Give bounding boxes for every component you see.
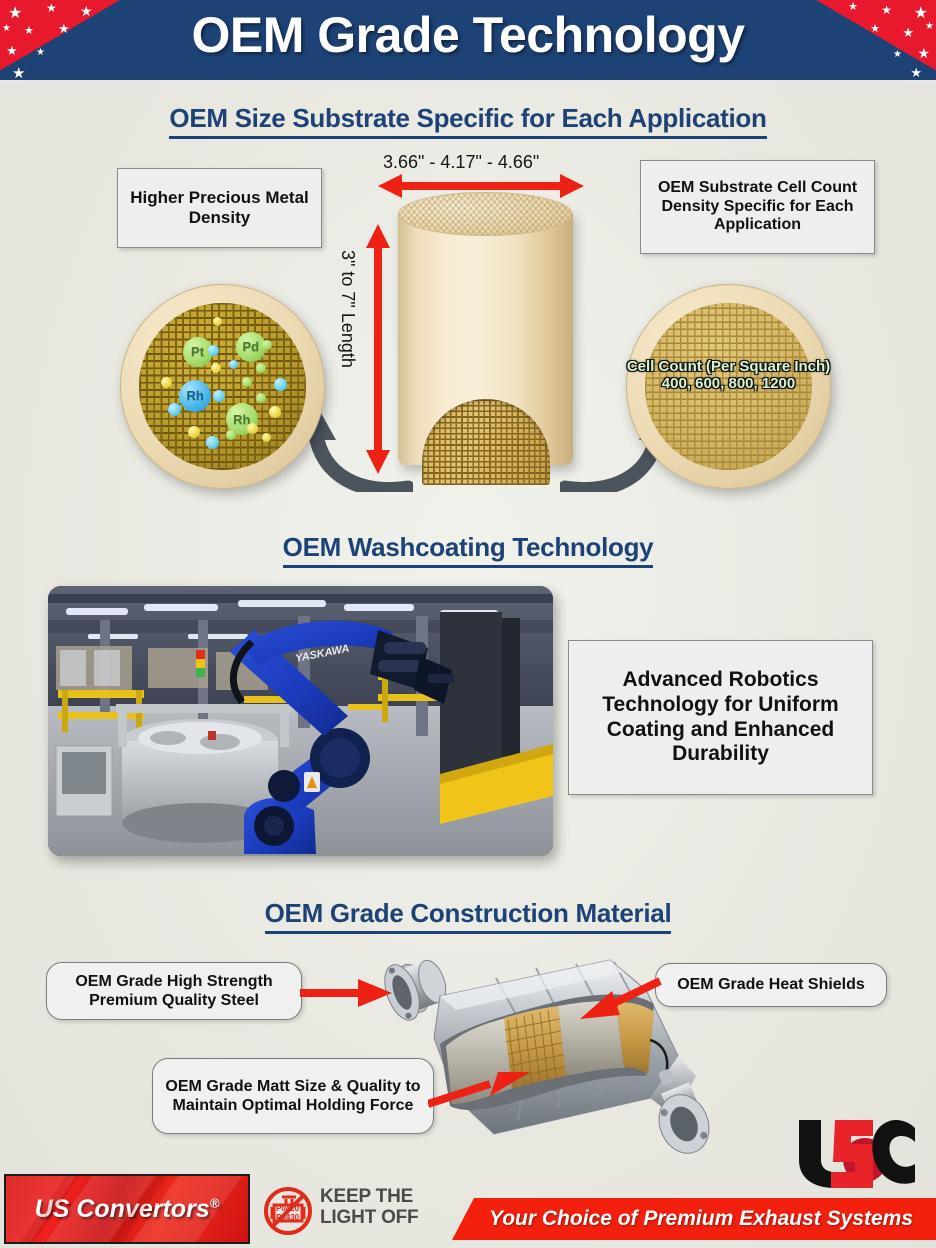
callout-cell-count-density: OEM Substrate Cell Count Density Specifi…: [640, 160, 875, 254]
robot-photo-illustration: YASKAWA: [48, 586, 553, 856]
cylinder-top-face: [398, 192, 573, 236]
usc-monogram-logo: [795, 1116, 919, 1190]
callout-text: OEM Grade High Strength Premium Quality …: [57, 972, 291, 1010]
header-banner: ★ ★ ★ ★ ★ ★ ★ ★ ★ OEM Grade Technology ★…: [0, 0, 936, 83]
keep-the-light-off-badge: P0420 P0430 KEEP THE LIGHT OFF: [262, 1183, 437, 1239]
infographic-page: ★ ★ ★ ★ ★ ★ ★ ★ ★ OEM Grade Technology ★…: [0, 0, 936, 1248]
particle-dot: [213, 317, 222, 326]
particle-dot: [188, 426, 200, 438]
particle-dot: [161, 377, 172, 388]
particle-dot: [242, 377, 252, 387]
substrate-cylinder: [398, 192, 573, 492]
callout-higher-precious-metal-density: Higher Precious Metal Density: [117, 168, 322, 248]
particle-pd: Pd: [236, 332, 266, 362]
dtc-code-1: P0420: [276, 1204, 300, 1213]
particle-dot: [213, 390, 225, 402]
arrow-matt-icon: [428, 1068, 536, 1110]
callout-text: OEM Grade Matt Size & Quality to Maintai…: [163, 1077, 423, 1115]
particle-rh-blue: Rh: [179, 380, 211, 412]
cell-count-label: Cell Count (Per Square Inch) 400, 600, 8…: [596, 359, 861, 393]
keep-line-1: KEEP THE: [320, 1187, 418, 1208]
tagline-banner: Your Choice of Premium Exhaust Systems: [452, 1198, 936, 1240]
dimension-length-label: 3" to 7" Length: [337, 250, 358, 368]
section-heading-washcoating: OEM Washcoating Technology: [0, 532, 936, 563]
tagline-text: Your Choice of Premium Exhaust Systems: [475, 1207, 913, 1231]
cell-count-title: Cell Count (Per Square Inch): [596, 359, 861, 376]
callout-text: OEM Substrate Cell Count Density Specifi…: [649, 179, 866, 236]
callout-text: Higher Precious Metal Density: [126, 188, 313, 228]
keep-light-off-text: KEEP THE LIGHT OFF: [320, 1187, 418, 1228]
keep-line-2: LIGHT OFF: [320, 1208, 418, 1229]
stars-decoration-right: ★ ★ ★ ★ ★ ★ ★ ★ ★: [804, 0, 936, 83]
callout-advanced-robotics: Advanced Robotics Technology for Uniform…: [568, 640, 873, 795]
usc-logo-icon: [795, 1116, 919, 1190]
honeycomb-face-left: Pt Pd Rh Rh: [139, 303, 305, 469]
logo-bg-texture: [6, 1176, 248, 1242]
section-heading-construction: OEM Grade Construction Material: [0, 898, 936, 929]
particle-dot: [168, 403, 181, 416]
arrow-heat-shields-icon: [578, 975, 662, 1025]
washcoating-robot-photo: YASKAWA: [48, 586, 553, 856]
particle-dot: [208, 345, 219, 356]
arrow-head-up-icon: [365, 224, 391, 250]
particle-dot: [226, 430, 236, 440]
callout-matt-size: OEM Grade Matt Size & Quality to Maintai…: [152, 1058, 434, 1134]
us-convertors-logo: US Convertors®: [4, 1174, 250, 1244]
cell-count-values: 400, 600, 800, 1200: [596, 376, 861, 393]
dtc-code-2: P0430: [276, 1213, 300, 1222]
dimension-diameter-label: 3.66" - 4.17" - 4.66": [383, 152, 539, 173]
particle-dot: [229, 360, 238, 369]
callout-text: Advanced Robotics Technology for Uniform…: [583, 668, 858, 767]
callout-text: OEM Grade Heat Shields: [677, 975, 865, 994]
particle-dot: [256, 393, 266, 403]
section-heading-substrate: OEM Size Substrate Specific for Each App…: [0, 103, 936, 134]
arrow-steel-icon: [300, 978, 394, 1008]
particle-dot: [256, 363, 266, 373]
page-title: OEM Grade Technology: [0, 6, 936, 64]
no-check-engine-light-icon: P0420 P0430: [262, 1185, 314, 1237]
particle-dot: [211, 363, 221, 373]
callout-premium-steel: OEM Grade High Strength Premium Quality …: [46, 962, 302, 1020]
substrate-circle-precious-metals: Pt Pd Rh Rh: [120, 284, 325, 489]
callout-heat-shields: OEM Grade Heat Shields: [655, 963, 887, 1007]
